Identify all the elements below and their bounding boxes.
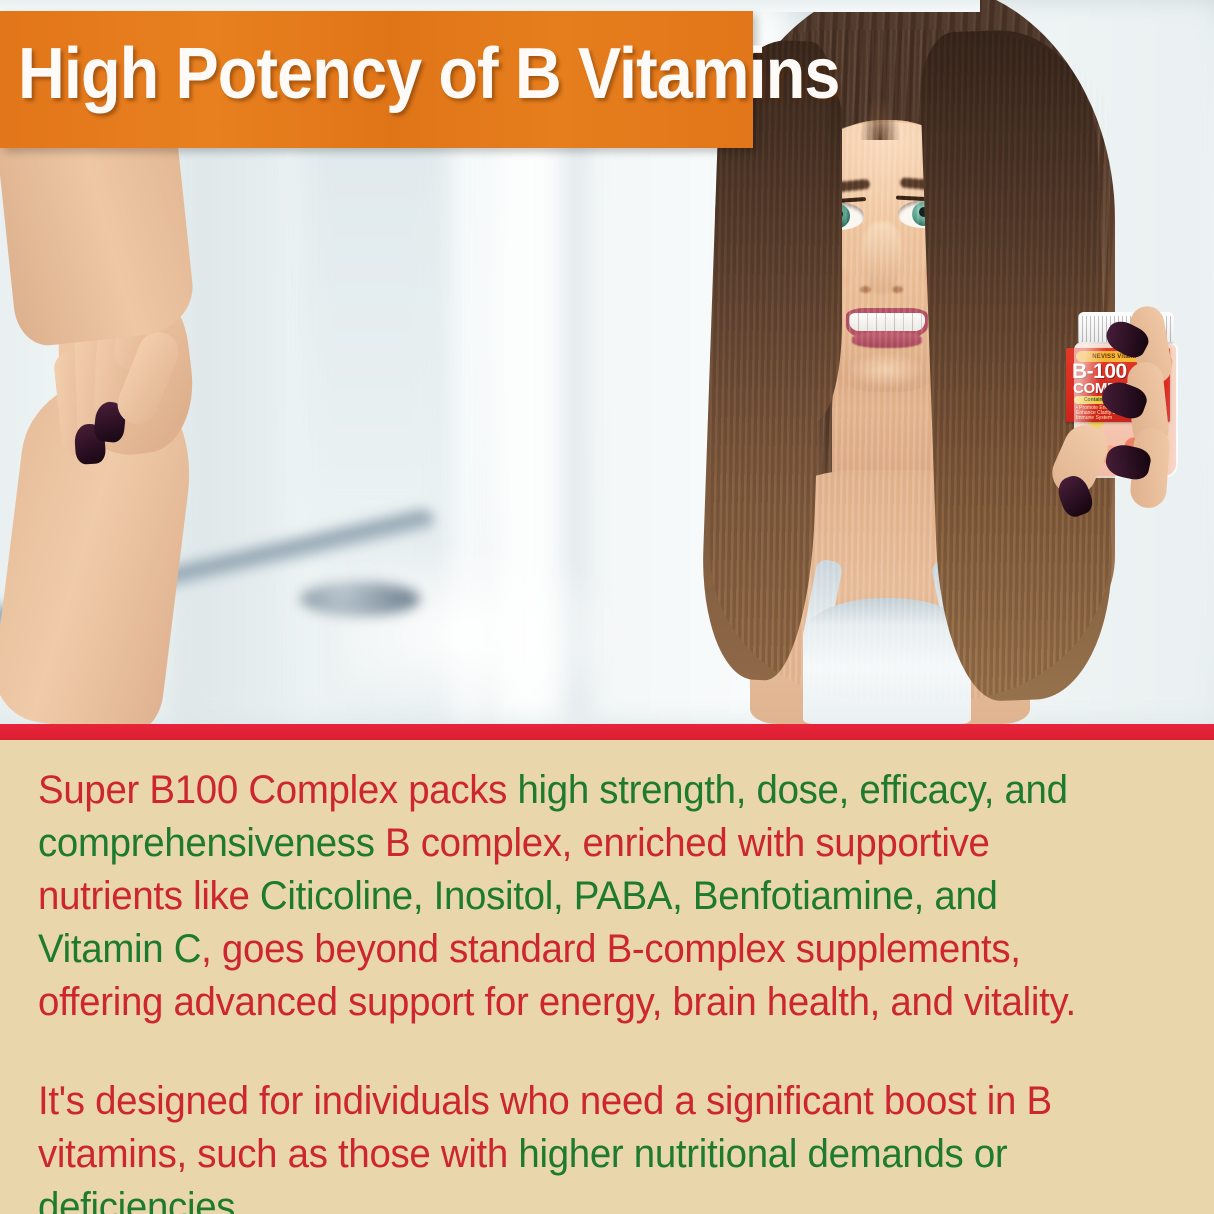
handrail-end bbox=[300, 582, 420, 616]
headline-text: High Potency of B Vitamins bbox=[18, 37, 840, 111]
paragraph-2: It's designed for individuals who need a… bbox=[38, 1075, 1129, 1214]
promo-infographic: NEVISS Vitamins B-100 COMPLEX Contains A… bbox=[0, 0, 1214, 1214]
copy-block: Super B100 Complex packs high strength, … bbox=[0, 740, 1214, 1214]
paragraph-1: Super B100 Complex packs high strength, … bbox=[38, 764, 1129, 1029]
text-run-1: Super B100 Complex packs bbox=[38, 768, 517, 812]
window-pane bbox=[300, 120, 445, 520]
hand-right bbox=[1128, 300, 1214, 510]
red-divider bbox=[0, 724, 1214, 740]
hair-strand-overlay bbox=[710, 30, 1110, 700]
hero-photo: NEVISS Vitamins B-100 COMPLEX Contains A… bbox=[0, 0, 1214, 724]
headline-banner: High Potency of B Vitamins bbox=[0, 11, 753, 148]
